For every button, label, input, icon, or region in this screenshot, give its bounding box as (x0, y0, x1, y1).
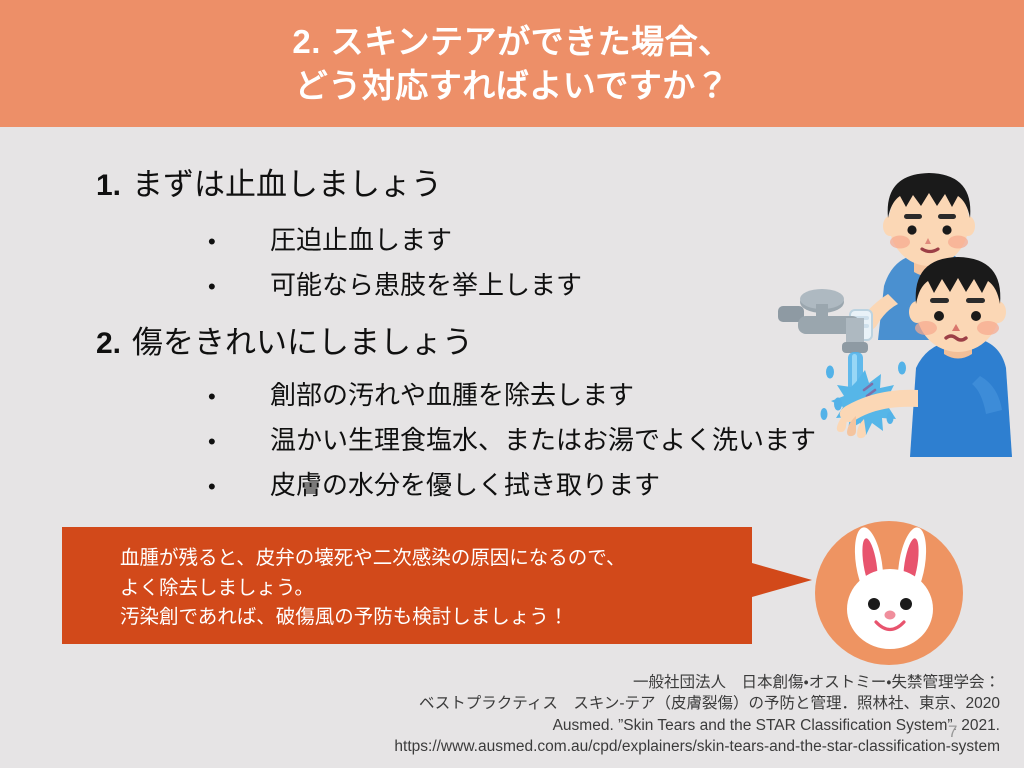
bullet-dot-icon: • (208, 276, 238, 298)
outline-item-1-bullet-2: • 可能なら患肢を挙上します (208, 272, 582, 298)
callout-text: 血腫が残ると、皮弁の壊死や二次感染の原因になるので、 よく除去しましょう。 汚染… (120, 544, 625, 633)
outline-item-1: 1. まずは止血しましょう (96, 169, 442, 201)
outline-item-1-bullet-2-text: 可能なら患肢を挙上します (270, 272, 582, 298)
boy-washing-wound-illustration (768, 272, 1024, 457)
callout-line-3: 汚染創であれば、破傷風の予防も検討しましょう！ (120, 603, 625, 633)
slide: 2. スキンテアができた場合、 どう対応すればよいですか？ 1. まずは止血しま… (0, 0, 1024, 768)
outline-item-2-bullet-3: • 皮膚の水分を優しく拭き取ります (208, 472, 660, 498)
callout-tail (752, 563, 812, 597)
outline-item-1-number: 1. (96, 171, 121, 201)
footer-citation: 一般社団法人 日本創傷・オストミー・失禁管理学会： ベストプラクティス スキン-… (0, 672, 1000, 758)
outline-item-2-bullet-1-text: 創部の汚れや血腫を除去します (270, 382, 634, 408)
bullet-dot-icon: • (208, 476, 238, 498)
outline-item-2-bullet-1: • 創部の汚れや血腫を除去します (208, 382, 634, 408)
rabbit-mascot-illustration (812, 516, 967, 671)
outline-item-2-number: 2. (96, 329, 121, 359)
footer-line-2: ベストプラクティス スキン-テア（皮膚裂傷）の予防と管理．照林社、東京、2020 (0, 693, 1000, 714)
bullet-dot-icon: • (208, 231, 238, 253)
outline-item-1-bullet-1: • 圧迫止血します (208, 227, 452, 253)
outline-item-2-text: 傷をきれいにしましょう (132, 327, 473, 358)
faucet-icon (778, 289, 868, 353)
outline-item-2: 2. 傷をきれいにしましょう (96, 327, 473, 359)
outline-item-2-bullet-2: • 温かい生理食塩水、またはお湯でよく洗います (208, 427, 816, 453)
callout-line-1: 血腫が残ると、皮弁の壊死や二次感染の原因になるので、 (120, 544, 625, 574)
outline-item-1-text: まずは止血しましょう (132, 169, 442, 200)
header-title-line-1: 2. スキンテアができた場合、 (292, 20, 731, 64)
slide-header-banner: 2. スキンテアができた場合、 どう対応すればよいですか？ (0, 0, 1024, 127)
footer-line-3: Ausmed. ”Skin Tears and the STAR Classif… (0, 715, 1000, 736)
bullet-dot-icon: • (208, 431, 238, 453)
outline-item-2-bullet-3-text: 皮膚の水分を優しく拭き取ります (270, 472, 660, 498)
footer-line-4: https://www.ausmed.com.au/cpd/explainers… (0, 736, 1000, 757)
bullet-dot-icon: • (208, 386, 238, 408)
header-title-line-2: どう対応すればよいですか？ (295, 64, 730, 108)
footer-line-1: 一般社団法人 日本創傷・オストミー・失禁管理学会： (0, 672, 1000, 693)
page-number: 7 (948, 722, 957, 742)
outline-item-1-bullet-1-text: 圧迫止血します (270, 227, 452, 253)
callout-line-2: よく除去しましょう。 (120, 574, 625, 604)
outline-item-2-bullet-2-text: 温かい生理食塩水、またはお湯でよく洗います (270, 427, 816, 453)
callout-box: 血腫が残ると、皮弁の壊死や二次感染の原因になるので、 よく除去しましょう。 汚染… (62, 527, 752, 644)
